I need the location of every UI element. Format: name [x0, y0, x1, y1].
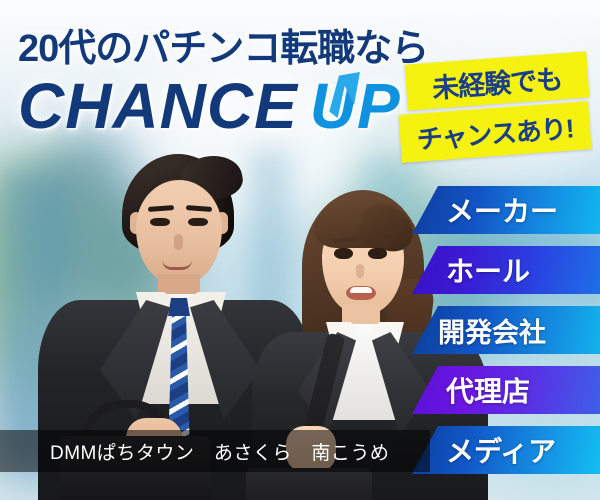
ribbon-maker-label: メーカー: [446, 190, 558, 230]
ribbon-agency[interactable]: 代理店: [412, 366, 600, 414]
recruitment-banner[interactable]: 20代のパチンコ転職なら CHANCEUP 未経験でも チャンスあり! メーカー…: [0, 0, 600, 500]
caption-text: DMMぱちタウン あさくら 南こうめ: [50, 438, 389, 465]
ribbon-maker[interactable]: メーカー: [412, 186, 600, 234]
ribbon-hall[interactable]: ホール: [412, 246, 600, 294]
ribbon-development-company-label: 開発会社: [438, 311, 546, 350]
ribbon-development-company[interactable]: 開発会社: [412, 306, 600, 354]
category-ribbon-list: メーカー ホール 開発会社 代理店 メディア: [0, 0, 600, 500]
ribbon-media[interactable]: メディア: [412, 426, 600, 474]
caption-bar: DMMぱちタウン あさくら 南こうめ: [0, 430, 430, 472]
ribbon-media-label: メディア: [446, 430, 556, 470]
ribbon-hall-label: ホール: [446, 250, 530, 290]
ribbon-agency-label: 代理店: [446, 370, 530, 410]
